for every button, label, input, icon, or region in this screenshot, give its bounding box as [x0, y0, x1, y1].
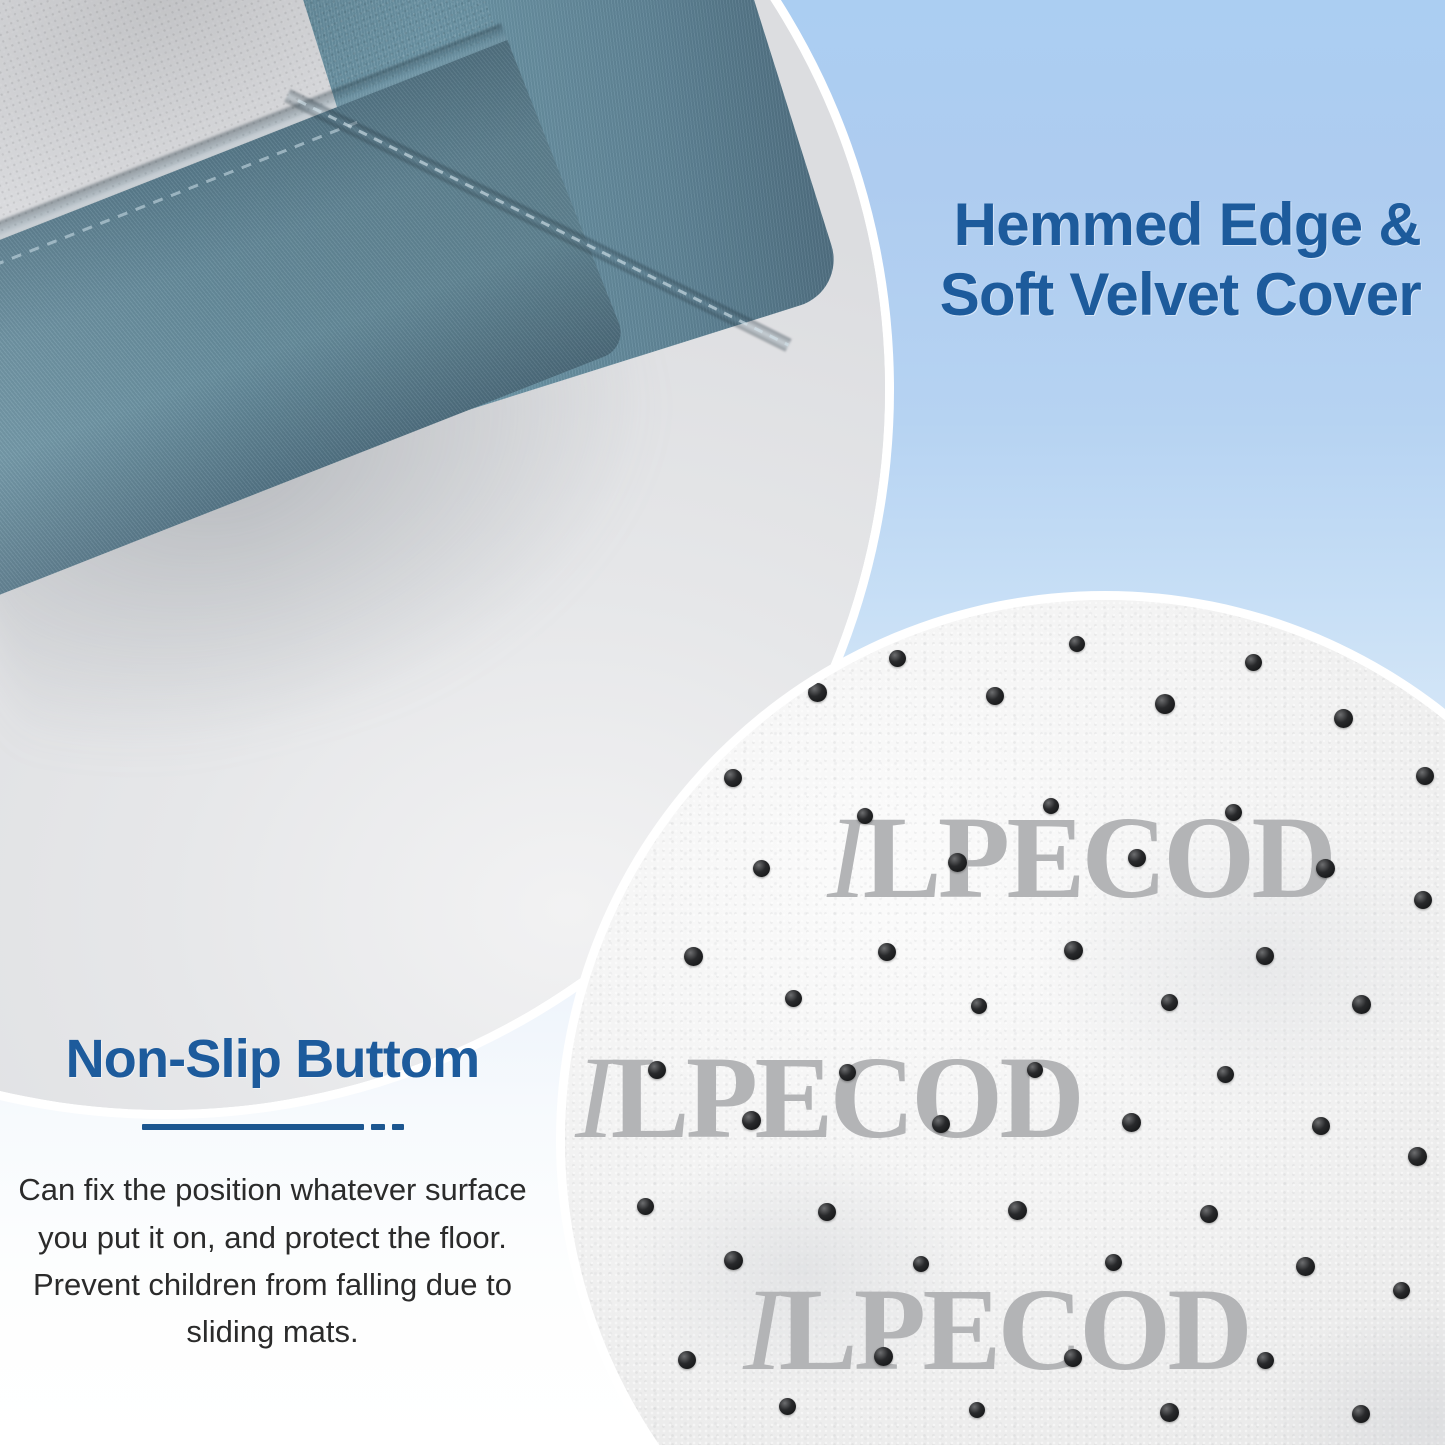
grip-dot [785, 990, 802, 1007]
feature-heading-non-slip: Non-Slip Buttom [0, 1030, 545, 1089]
grip-dot [1069, 636, 1085, 652]
grip-dot [1161, 994, 1178, 1011]
photo-non-slip-bottom-mat: ILPECOD ILPECOD ILPECOD [565, 600, 1445, 1445]
grip-dot [808, 683, 827, 702]
feature-body-non-slip: Can fix the position whatever surface yo… [0, 1166, 545, 1354]
grip-dot [986, 687, 1004, 705]
grip-dot [878, 943, 896, 961]
grip-dot [839, 1064, 856, 1081]
brand-watermark: ILPECOD [743, 1262, 1249, 1398]
grip-dot [742, 1111, 761, 1130]
grip-dot [1043, 798, 1059, 814]
grip-dot [1064, 1349, 1082, 1367]
grip-dot [724, 1251, 743, 1270]
grip-dot [1105, 1254, 1122, 1271]
grip-dot [1245, 654, 1262, 671]
grip-dot [948, 853, 967, 872]
feature-block-non-slip: Non-Slip Buttom Can fix the position wha… [0, 1030, 545, 1355]
grip-dot [779, 1398, 796, 1415]
feature-heading-hemmed-edge: Hemmed Edge & Soft Velvet Cover [940, 190, 1421, 329]
promo-canvas: ILPECOD ILPECOD ILPECOD Hemmed Edge & So… [0, 0, 1445, 1445]
divider-dash-2 [392, 1124, 404, 1130]
grip-dot [1155, 694, 1175, 714]
grip-dot [1393, 1282, 1410, 1299]
grip-dot [1408, 1147, 1427, 1166]
heading-divider [142, 1123, 404, 1130]
grip-dot [1414, 891, 1432, 909]
grip-dot [678, 1351, 696, 1369]
divider-dash-1 [371, 1124, 385, 1130]
grip-dot [724, 769, 742, 787]
grip-dot [971, 998, 987, 1014]
grip-dot [1257, 1352, 1274, 1369]
grip-dot [1128, 849, 1146, 867]
grip-dot [1217, 1066, 1234, 1083]
grip-dot [857, 808, 873, 824]
grip-dot [969, 1402, 985, 1418]
grip-dot [1027, 1062, 1043, 1078]
grip-dot [913, 1256, 929, 1272]
grip-dot [753, 860, 770, 877]
divider-bar [142, 1124, 364, 1130]
heading-line-2: Soft Velvet Cover [940, 260, 1421, 330]
grip-dot [684, 947, 703, 966]
grip-dot [1200, 1205, 1218, 1223]
grip-dot [1256, 947, 1274, 965]
grip-dot [1312, 1117, 1330, 1135]
grip-dot [648, 1061, 666, 1079]
grip-dot [1064, 941, 1083, 960]
grip-dot [1416, 767, 1434, 785]
brand-watermark: ILPECOD [575, 1030, 1081, 1166]
heading-line-1: Hemmed Edge & [940, 190, 1421, 260]
grip-dot [1160, 1403, 1179, 1422]
grip-dot [1334, 709, 1353, 728]
grip-dot [1122, 1113, 1141, 1132]
grip-dot [637, 1198, 654, 1215]
grip-dot [1008, 1201, 1027, 1220]
grip-dot [874, 1347, 893, 1366]
grip-dot [1352, 995, 1371, 1014]
grip-dot [1316, 859, 1335, 878]
grip-dot [932, 1115, 950, 1133]
grip-dot [889, 650, 906, 667]
brand-watermark: ILPECOD [827, 790, 1333, 926]
grip-dot [818, 1203, 836, 1221]
grip-dot [1225, 804, 1242, 821]
grip-dot [1352, 1405, 1370, 1423]
grip-dot [1296, 1257, 1315, 1276]
